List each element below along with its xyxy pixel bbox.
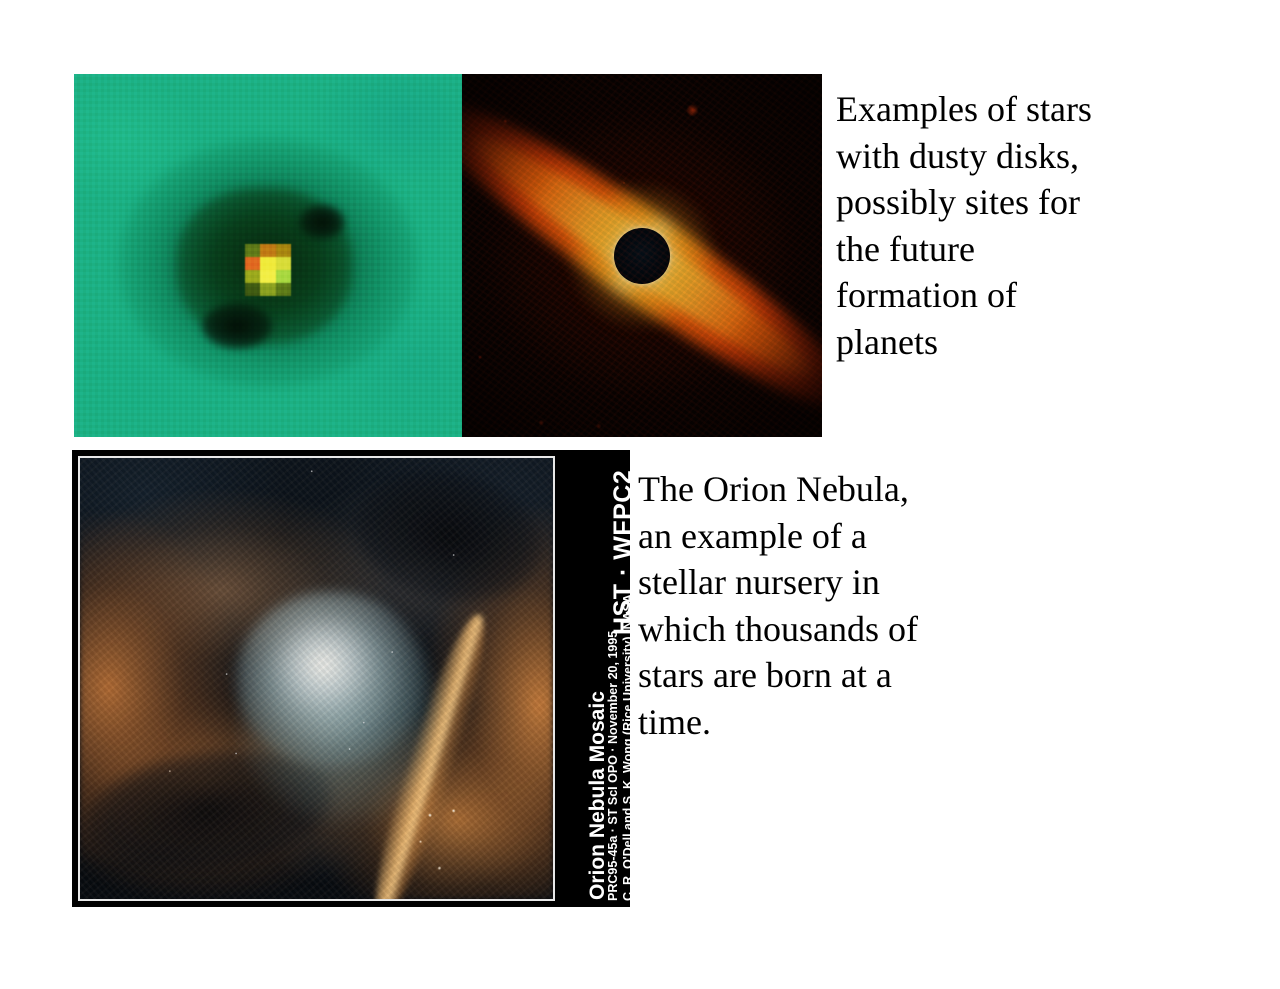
orion-caption-credit-line-1: PRC95-45a · ST ScI OPO · November 20, 19… — [606, 631, 620, 901]
orion-nebula-figure: HST · WFPC2 Orion Nebula Mosaic PRC95-45… — [72, 450, 630, 907]
infrared-star-image — [74, 74, 462, 437]
disk-vignette — [462, 74, 822, 437]
orion-image-frame — [78, 456, 555, 901]
orion-caption-strip: HST · WFPC2 Orion Nebula Mosaic PRC95-45… — [559, 450, 630, 907]
orion-image-wrapper — [72, 450, 559, 907]
dusty-disk-image — [462, 74, 822, 437]
orion-caption-text: The Orion Nebula, an example of a stella… — [638, 466, 978, 745]
orion-texture-overlay — [80, 458, 553, 899]
dusty-disks-figure — [74, 74, 822, 437]
infrared-pixel-noise — [74, 74, 462, 437]
orion-caption-credit-line-2: C. R. O'Dell and S. K. Wong (Rice Univer… — [621, 594, 630, 901]
dusty-disks-caption-text: Examples of stars with dusty disks, poss… — [836, 86, 1136, 365]
